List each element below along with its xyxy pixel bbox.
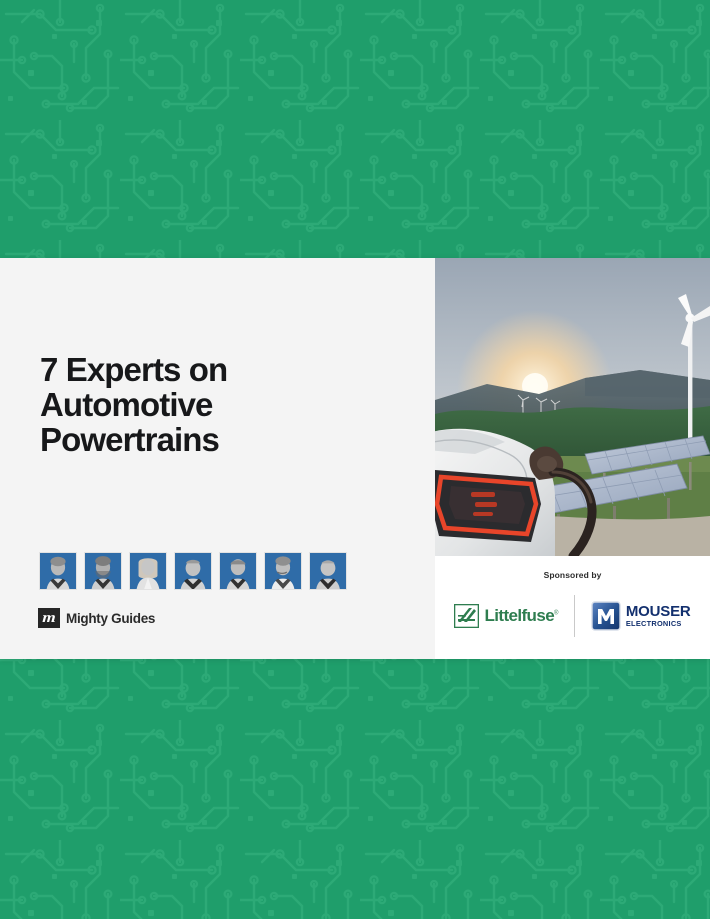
expert-headshot-7 [309, 552, 347, 590]
littelfuse-trademark: ® [554, 610, 558, 616]
mouser-logo-icon [591, 601, 621, 631]
mighty-guides-logo: m Mighty Guides [38, 608, 155, 628]
expert-headshot-5 [219, 552, 257, 590]
cover-left-panel: 7 Experts on Automotive Powertrains [0, 258, 435, 659]
mouser-subwordmark: ELECTRONICS [626, 620, 691, 627]
expert-headshot-4 [174, 552, 212, 590]
expert-headshot-6 [264, 552, 302, 590]
sponsor-littelfuse[interactable]: Littelfuse® [438, 594, 573, 638]
sponsored-by-label: Sponsored by [435, 570, 710, 580]
expert-headshot-1 [39, 552, 77, 590]
cover-card: 7 Experts on Automotive Powertrains [0, 258, 710, 659]
sponsor-block: Sponsored by [435, 556, 710, 659]
expert-headshots-row [39, 552, 347, 590]
cover-page: 7 Experts on Automotive Powertrains [0, 0, 710, 919]
expert-headshot-2 [84, 552, 122, 590]
cover-right-panel: Sponsored by [435, 258, 710, 659]
mighty-guides-wordmark: Mighty Guides [66, 611, 155, 626]
littelfuse-logo-icon [454, 604, 479, 628]
mighty-guides-mark-letter: m [42, 612, 57, 625]
page-title: 7 Experts on Automotive Powertrains [40, 353, 390, 458]
sponsor-mouser[interactable]: MOUSER ELECTRONICS [575, 594, 707, 638]
cover-photo [435, 258, 710, 556]
mighty-guides-mark-icon: m [38, 608, 60, 628]
expert-headshot-3 [129, 552, 167, 590]
littelfuse-wordmark: Littelfuse® [484, 606, 557, 626]
sponsor-logos-row: Littelfuse® [435, 588, 710, 644]
mouser-wordmark: MOUSER [626, 604, 691, 619]
